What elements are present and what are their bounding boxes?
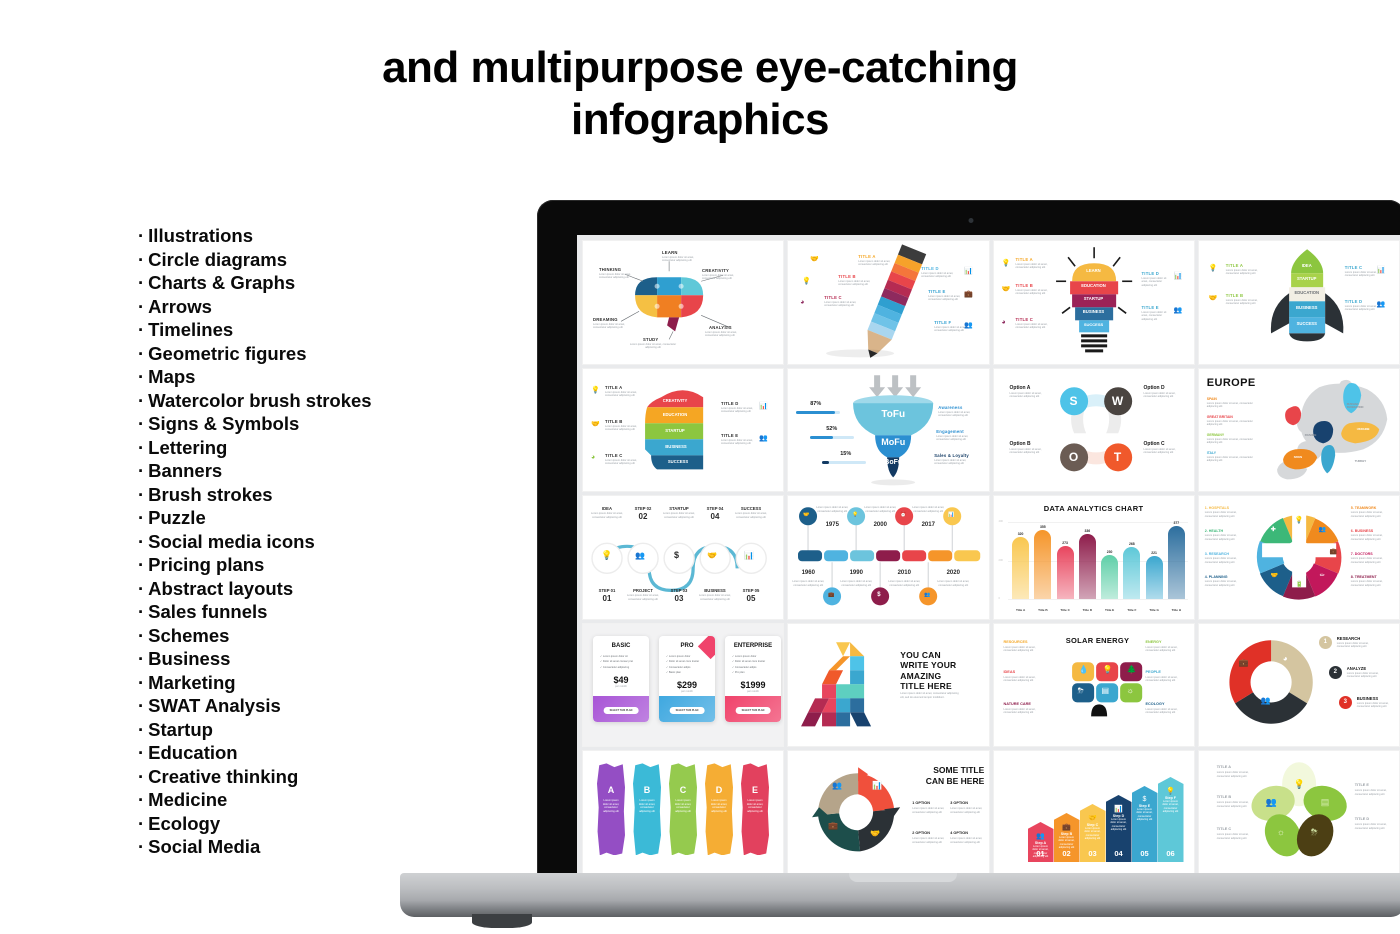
swot-option-b: Option B xyxy=(1010,441,1031,447)
map-label-russia: RUSSIAN FEDERATION xyxy=(1347,403,1373,409)
timeline-year-2017: 2017 xyxy=(912,522,944,528)
solar-energy-title: SOLAR ENERGY xyxy=(1060,636,1136,645)
chart-category-label: Title C xyxy=(1057,608,1074,612)
feature-list-item-label: Startup xyxy=(148,719,213,740)
feature-list-item-label: Geometric figures xyxy=(148,343,306,364)
slide-eco-flower[interactable]: 💡 👥 ▤ ☼ ⛈ TITLE A Lorem ipsum dolor sit … xyxy=(1199,751,1399,874)
rocket-text-a: Lorem ipsum dolor sit amet, consectetur … xyxy=(1226,269,1260,276)
letter-a-mosaic xyxy=(788,624,988,747)
step-top-label-1: IDEA xyxy=(591,506,623,511)
timeline-text-2020: Lorem ipsum dolor sit amet, consectetur … xyxy=(936,580,970,587)
arrow-step[interactable]: 💡Step FLorem ipsum dolor sit amet, conse… xyxy=(1158,777,1184,862)
funnel-percent-1: 87% xyxy=(810,401,821,407)
rocket-text-b: Lorem ipsum dolor sit amet, consectetur … xyxy=(1226,299,1260,306)
brush-stroke: ALorem ipsum dolor sit amet, consectetur… xyxy=(597,763,625,855)
bulb-band-learn: LEARN xyxy=(1072,268,1116,273)
feature-list-item: ·Banners xyxy=(138,459,438,483)
eco-text-b: Lorem ipsum dolor sit amet, consectetur … xyxy=(1217,801,1253,808)
pricing-amount: $49 xyxy=(593,675,649,685)
pricing-card[interactable]: BASIC✓ Lorem ipsum dolor sit✓ Dolor sit … xyxy=(593,636,649,722)
bulb-band-startup: STARTUP xyxy=(1072,296,1116,301)
pricing-period: per month xyxy=(725,690,781,693)
handshake-icon: 🤝 xyxy=(1080,814,1106,822)
funnel-sales-text: Lorem ipsum dolor sit amet, consectetur … xyxy=(934,459,970,466)
bulb-title-e: TITLE E xyxy=(1142,305,1159,310)
medical-label-teamwork: 5. TEAMWORK xyxy=(1351,506,1377,510)
feature-list-item: ·Abstract layouts xyxy=(138,577,438,601)
medical-teamwork-text: Lorem ipsum dolor sit amet, consectetur … xyxy=(1351,511,1393,518)
solar-label-people: PEOPLE xyxy=(1146,670,1161,674)
step-top-text-3: Lorem ipsum dolor sit amet, consectetur … xyxy=(661,512,697,519)
people-icon: 👥 xyxy=(759,434,768,442)
arrow-steps-holder: 👥Step ALorem ipsum dolor sit amet, conse… xyxy=(994,751,1194,874)
arrow-step-text: Lorem ipsum dolor sit amet, consectetur … xyxy=(1106,818,1132,832)
feature-list-item: ·Arrows xyxy=(138,295,438,319)
pencil-title-a: TITLE A xyxy=(858,254,875,259)
bar-chart-icon: 📊 xyxy=(948,512,954,518)
funnel-stage-awareness: Awareness xyxy=(938,405,962,410)
head-band-business: BUSINESS xyxy=(651,444,701,449)
step-top-label-2: STEP 02 xyxy=(627,506,659,511)
timeline-text-2010: Lorem ipsum dolor sit amet, consectetur … xyxy=(888,580,920,587)
briefcase-icon: 💼 xyxy=(964,290,973,298)
three-circle-label: ANALYZE xyxy=(1347,666,1366,671)
pricing-feature: ✓ Lorem ipsum dolor sit xyxy=(600,655,649,658)
feature-list-item: ·Business xyxy=(138,647,438,671)
pricing-select-button[interactable]: SELECT THIS PLAN xyxy=(736,707,771,714)
feature-list-item-label: Schemes xyxy=(148,625,229,646)
europe-legend-germany: GERMANY xyxy=(1207,433,1224,437)
bar-chart-icon: 📊 xyxy=(964,267,973,275)
some-title-option-4-text: Lorem ipsum dolor sit amet, consectetur … xyxy=(950,837,982,844)
bulb-text-b: Lorem ipsum dolor sit amet, consectetur … xyxy=(1016,289,1050,296)
step-top-number-2: 02 xyxy=(627,512,659,521)
eco-text-a: Lorem ipsum dolor sit amet, consectetur … xyxy=(1217,771,1253,778)
pie-chart-icon: ◕ xyxy=(591,454,595,461)
medical-label-treatment: 8. TREATMENT xyxy=(1351,575,1377,579)
people-icon: 👥 xyxy=(1266,797,1277,808)
feature-list-item: ·Marketing xyxy=(138,671,438,695)
water-drop-icon: 💧 xyxy=(1079,665,1089,674)
chart-gridline xyxy=(1008,599,1188,600)
medical-label-planning: 4. PLANNING xyxy=(1205,575,1228,579)
chart-bar xyxy=(1034,530,1051,598)
step-bottom-number-1: 01 xyxy=(591,594,623,603)
pencil-text-b: Lorem ipsum dolor sit amet, consectetur … xyxy=(838,280,872,287)
slide-rocket[interactable]: IDEA STARTUP EDUCATION BUSINESS SUCCESS … xyxy=(1199,241,1399,364)
chart-value-label: 273 xyxy=(1057,541,1074,545)
three-circle-item: 1RESEARCHLorem ipsum dolor sit amet, con… xyxy=(1319,634,1397,664)
chart-category-label: Title G xyxy=(1146,608,1163,612)
slide-arrow-steps[interactable]: 👥Step ALorem ipsum dolor sit amet, conse… xyxy=(994,751,1194,874)
brain-label-analysis: ANALYSIS xyxy=(709,325,732,330)
bullet-icon: · xyxy=(138,648,144,669)
head-band-success: SUCCESS xyxy=(655,459,701,464)
pricing-feature: ✓ Dolor sit amet cons tracter xyxy=(666,660,715,663)
three-circle-number: 1 xyxy=(1319,636,1332,649)
people-icon: 👥 xyxy=(1028,832,1054,840)
feature-list-item-label: Education xyxy=(148,742,237,763)
some-title-headline-line: CAN BE HERE xyxy=(912,776,984,787)
brain-dreaming-text: Lorem ipsum dolor sit amet, consectetur … xyxy=(593,323,629,330)
bulb-band-business: BUSINESS xyxy=(1075,309,1113,314)
briefcase-icon: 💼 xyxy=(1239,658,1249,667)
arrow-step[interactable]: 💼Step BLorem ipsum dolor sit amet, conse… xyxy=(1054,813,1080,862)
lightbulb-icon: 💡 xyxy=(1158,787,1184,795)
arrow-step-text: Lorem ipsum dolor sit amet, consectetur … xyxy=(1080,827,1106,841)
medical-business-text: Lorem ipsum dolor sit amet, consectetur … xyxy=(1351,534,1393,541)
briefcase-icon: 💼 xyxy=(828,821,838,830)
tree-icon: 🌲 xyxy=(1127,665,1137,674)
slide-swot[interactable]: S W O T Option A Lorem ipsum dolor sit a… xyxy=(994,369,1194,492)
chart-category-label: Title A xyxy=(1012,608,1029,612)
slide-pencil[interactable]: TITLE A Lorem ipsum dolor sit amet, cons… xyxy=(788,241,988,364)
arrow-step[interactable]: $Step ELorem ipsum dolor sit amet, conse… xyxy=(1132,786,1158,862)
arrow-step-number: 02 xyxy=(1054,849,1080,858)
chart-value-label: 230 xyxy=(1101,550,1118,554)
timeline-year-1990: 1990 xyxy=(840,570,872,576)
step-top-label-3: STARTUP xyxy=(663,506,695,511)
step-bottom-number-5: 05 xyxy=(735,594,767,603)
brain-label-study: STUDY xyxy=(643,337,658,342)
slide-brain-puzzle[interactable]: LEARN Lorem ipsum dolor sit amet, consec… xyxy=(583,241,783,364)
timeline-year-2020: 2020 xyxy=(936,570,970,576)
europe-legend-uk: GREAT BRITAIN xyxy=(1207,415,1233,419)
analytics-plot-area: 4002000320Title A355Title B273Title C336… xyxy=(994,496,1194,619)
pricing-period: per month xyxy=(659,690,715,693)
bullet-icon: · xyxy=(138,296,144,317)
bar-chart-icon: 📊 xyxy=(1377,266,1386,274)
some-title-option-3: 3 OPTION xyxy=(950,801,968,805)
bullet-icon: · xyxy=(138,460,144,481)
step-top-label-5: SUCCESS xyxy=(735,506,767,511)
lightbulb-icon: 💡 xyxy=(601,550,612,561)
three-circle-text: Lorem ipsum dolor sit amet, consectetur … xyxy=(1347,672,1387,679)
arrow-step[interactable]: 👥Step ALorem ipsum dolor sit amet, conse… xyxy=(1028,822,1054,862)
dollar-icon: $ xyxy=(674,550,679,560)
swot-option-b-text: Lorem ipsum dolor sit amet, consectetur … xyxy=(1010,448,1048,455)
pricing-card[interactable]: ENTERPRISE✓ Lorem ipsum dolor✓ Dolor sit… xyxy=(725,636,781,722)
medical-health-text: Lorem ipsum dolor sit amet, consectetur … xyxy=(1205,534,1247,541)
brush-stroke-text: Lorem ipsum dolor sit amet, consectetur … xyxy=(633,799,661,813)
slide-analytics-chart[interactable]: DATA ANALYTICS CHART 4002000320Title A35… xyxy=(994,496,1194,619)
arrow-step-number: 05 xyxy=(1132,849,1158,858)
letter-a-headline-line: TITLE HERE xyxy=(900,681,956,692)
dollar-icon: $ xyxy=(877,592,880,598)
feature-list-item-label: Puzzle xyxy=(148,507,206,528)
rocket-band-startup: STARTUP xyxy=(1291,276,1323,281)
bulb-text-d: Lorem ipsum dolor sit amet, consectetur … xyxy=(1142,277,1172,287)
bar-chart-icon: 📊 xyxy=(744,551,754,560)
feature-list-item-label: Medicine xyxy=(148,789,227,810)
rocket-title-a: TITLE A xyxy=(1226,263,1243,268)
bar-chart-icon: 📊 xyxy=(872,781,882,790)
brush-stroke-text: Lorem ipsum dolor sit amet, consectetur … xyxy=(705,799,733,813)
handshake-icon: 🤝 xyxy=(810,255,819,263)
slide-pricing-plans[interactable]: BASIC✓ Lorem ipsum dolor sit✓ Dolor sit … xyxy=(583,624,783,747)
step-bottom-label-4: BUSINESS xyxy=(699,588,731,593)
funnel-level-tofu: ToFu xyxy=(868,409,918,420)
pricing-feature: ✓ Dolor sit amet consec pret xyxy=(600,660,649,663)
letter-a-headline-line: YOU CAN xyxy=(900,650,956,661)
feature-list-item: ·Signs & Symbols xyxy=(138,412,438,436)
head-title-b: TITLE B xyxy=(605,419,623,424)
brain-label-learn: LEARN xyxy=(662,250,678,255)
timeline-text-2017: Lorem ipsum dolor sit amet, consectetur … xyxy=(912,506,944,513)
chart-category-label: Title H xyxy=(1168,608,1185,612)
europe-legend-italy: ITALY xyxy=(1207,451,1216,455)
step-bottom-text-4: Lorem ipsum dolor sit amet, consectetur … xyxy=(697,594,733,601)
chart-bar xyxy=(1101,555,1118,599)
chart-value-label: 268 xyxy=(1123,542,1140,546)
three-circle-number: 2 xyxy=(1329,666,1342,679)
three-circle-label: RESEARCH xyxy=(1337,636,1361,641)
pencil-text-a: Lorem ipsum dolor sit amet, consectetur … xyxy=(858,260,892,267)
arrow-step-number: 06 xyxy=(1158,849,1184,858)
bullet-icon: · xyxy=(138,531,144,552)
solar-panel-icon: ▤ xyxy=(1102,686,1110,695)
three-circle-list: 1RESEARCHLorem ipsum dolor sit amet, con… xyxy=(1319,634,1397,724)
timeline-year-2000: 2000 xyxy=(864,522,896,528)
pricing-select-button[interactable]: SELECT THIS PLAN xyxy=(670,707,705,714)
solar-label-energy: ENERGY xyxy=(1146,640,1162,644)
bulb-band-education: EDUCATION xyxy=(1070,283,1118,288)
bullet-icon: · xyxy=(138,249,144,270)
slide-head-profile[interactable]: CREATIVITY EDUCATION STARTUP BUSINESS SU… xyxy=(583,369,783,492)
bulb-title-c: TITLE C xyxy=(1016,317,1034,322)
eco-text-e: Lorem ipsum dolor sit amet, consectetur … xyxy=(1355,789,1391,796)
step-top-number-4: 04 xyxy=(699,512,731,521)
medical-label-health: 2. HEALTH xyxy=(1205,529,1223,533)
pencil-title-f: TITLE F xyxy=(934,320,951,325)
swot-option-a-text: Lorem ipsum dolor sit amet, consectetur … xyxy=(1010,392,1048,399)
bullet-icon: · xyxy=(138,766,144,787)
plus-icon: ✚ xyxy=(1271,526,1276,533)
head-band-creativity: CREATIVITY xyxy=(651,398,699,403)
eco-title-c: TITLE C xyxy=(1217,827,1231,831)
map-label-france: FRANCE xyxy=(1305,433,1317,437)
chart-y-tick: 400 xyxy=(999,520,1003,523)
feature-list-item-label: Social media icons xyxy=(148,531,315,552)
bullet-icon: · xyxy=(138,225,144,246)
chart-bar xyxy=(1079,534,1096,599)
people-icon: 👥 xyxy=(1261,696,1271,705)
rocket-band-idea: IDEA xyxy=(1291,263,1323,268)
three-circle-item: 2ANALYZELorem ipsum dolor sit amet, cons… xyxy=(1319,664,1397,694)
solar-label-ideas: IDEAS xyxy=(1004,670,1016,674)
head-text-e: Lorem ipsum dolor sit amet, consectetur … xyxy=(721,439,753,446)
feature-list-item: ·Creative thinking xyxy=(138,765,438,789)
timeline-year-2010: 2010 xyxy=(888,570,920,576)
medical-label-doctors: 7. DOCTORS xyxy=(1351,552,1373,556)
brush-stroke-letter: E xyxy=(741,785,769,795)
slide-solar-energy[interactable]: SOLAR ENERGY 💧 💡 🌲 xyxy=(994,624,1194,747)
brush-stroke: ELorem ipsum dolor sit amet, consectetur… xyxy=(741,763,769,855)
swot-option-d: Option D xyxy=(1144,385,1165,391)
pie-chart-icon: ◕ xyxy=(800,299,804,306)
feature-list-item-label: Lettering xyxy=(148,437,227,458)
step-top-text-5: Lorem ipsum dolor sit amet, consectetur … xyxy=(733,512,769,519)
brain-label-thinking: THINKING xyxy=(599,267,621,272)
funnel-percent-3: 15% xyxy=(840,451,851,457)
lightbulb-icon: 💡 xyxy=(1209,264,1218,272)
bullet-icon: · xyxy=(138,813,144,834)
dollar-icon: $ xyxy=(1132,796,1158,803)
step-bottom-label-3: STEP 03 xyxy=(663,588,695,593)
chart-category-label: Title B xyxy=(1034,608,1051,612)
head-band-startup: STARTUP xyxy=(649,428,701,433)
bulb-text-c: Lorem ipsum dolor sit amet, consectetur … xyxy=(1016,323,1050,330)
head-title-e: TITLE E xyxy=(721,433,738,438)
bullet-icon: · xyxy=(138,366,144,387)
eco-text-d: Lorem ipsum dolor sit amet, consectetur … xyxy=(1355,823,1391,830)
letter-a-headline-line: WRITE YOUR xyxy=(900,660,956,671)
funnel-level-bofu: BoFu xyxy=(876,459,910,466)
timeline-text-1975: Lorem ipsum dolor sit amet, consectetur … xyxy=(816,506,848,513)
people-icon: 👥 xyxy=(964,321,973,329)
bulb-text-a: Lorem ipsum dolor sit amet, consectetur … xyxy=(1016,263,1050,270)
page-title: and multipurpose eye-catching infographi… xyxy=(330,42,1070,146)
eco-title-a: TITLE A xyxy=(1217,765,1231,769)
europe-italy-text: Lorem ipsum dolor sit amet, consectetur … xyxy=(1207,456,1263,463)
feature-list-item-label: Arrows xyxy=(148,296,212,317)
arrow-step-number: 04 xyxy=(1106,849,1132,858)
map-label-ukraine: UKRAINE xyxy=(1357,427,1370,431)
slide-steps-wave[interactable]: 💡 👥 $ 🤝 📊 IDEA Lorem ipsum dolor sit ame… xyxy=(583,496,783,619)
three-circle-item: 3BUSINESSLorem ipsum dolor sit amet, con… xyxy=(1319,694,1397,724)
some-title-option-1: 1 OPTION xyxy=(912,801,930,805)
europe-germany-text: Lorem ipsum dolor sit amet, consectetur … xyxy=(1207,438,1263,445)
brain-analysis-text: Lorem ipsum dolor sit amet, consectetur … xyxy=(705,331,747,338)
funnel-bar-2 xyxy=(810,436,854,439)
some-title-option-2-text: Lorem ipsum dolor sit amet, consectetur … xyxy=(912,837,944,844)
funnel-bar-3 xyxy=(822,461,866,464)
bulb-title-a: TITLE A xyxy=(1016,257,1033,262)
handshake-icon: 🤝 xyxy=(1209,294,1218,302)
lightbulb-icon: 💡 xyxy=(802,277,811,285)
pricing-card[interactable]: PRO✓ Lorem ipsum dolor✓ Dolor sit amet c… xyxy=(659,636,715,722)
lightbulb-icon: 💡 xyxy=(1295,516,1304,524)
medical-doctors-text: Lorem ipsum dolor sit amet, consectetur … xyxy=(1351,557,1393,564)
medical-label-hospitals: 1. HOSPITALS xyxy=(1205,506,1229,510)
funnel-level-mofu: MoFu xyxy=(872,437,914,447)
feature-list-item: ·Social Media xyxy=(138,835,438,859)
solar-resources-text: Lorem ipsum dolor sit amet, consectetur … xyxy=(1004,646,1048,653)
pricing-feature: ✓ Consectetur adipis xyxy=(666,666,715,669)
bullet-icon: · xyxy=(138,554,144,575)
step-bottom-label-2: PROJECT xyxy=(627,588,659,593)
feature-list: ·Illustrations·Circle diagrams·Charts & … xyxy=(138,224,438,859)
solar-nature-text: Lorem ipsum dolor sit amet, consectetur … xyxy=(1004,708,1048,715)
feature-list-item-label: Circle diagrams xyxy=(148,249,287,270)
slide-sales-funnel[interactable]: ToFu MoFu BoFu 87% 52% 15% Awareness Lor… xyxy=(788,369,988,492)
eco-title-e: TITLE E xyxy=(1355,783,1369,787)
rocket-band-success: SUCCESS xyxy=(1289,321,1325,326)
slide-timeline[interactable]: 1975 Lorem ipsum dolor sit amet, consect… xyxy=(788,496,988,619)
pencil-text-d: Lorem ipsum dolor sit amet, consectetur … xyxy=(921,272,955,279)
laptop-mockup: LEARN Lorem ipsum dolor sit amet, consec… xyxy=(400,200,1400,934)
people-icon: 👥 xyxy=(1377,300,1386,308)
chart-bar xyxy=(1146,556,1163,599)
sun-icon: ☼ xyxy=(1277,827,1285,837)
handshake-icon: 🤝 xyxy=(803,512,809,518)
timeline-year-1975: 1975 xyxy=(816,522,848,528)
people-icon: 👥 xyxy=(635,551,645,560)
bullet-icon: · xyxy=(138,789,144,810)
page-title-line-2: infographics xyxy=(330,94,1070,146)
slide-letter-a[interactable]: YOU CANWRITE YOURAMAZINGTITLE HERE Lorem… xyxy=(788,624,988,747)
slide-some-title-circle[interactable]: 📊 🤝 💼 👥 SOME TITLECAN BE HERE 1 OPTION L… xyxy=(788,751,988,874)
bullet-icon: · xyxy=(138,695,144,716)
brain-label-creativity: CREATIVITY xyxy=(702,268,729,273)
slide-medical-circle[interactable]: 💡 👥 💼 ✏ 🔋 🤝 ♡ ✚ 1. HOSPITALS Lorem ipsum… xyxy=(1199,496,1399,619)
map-label-turkey: TURKEY xyxy=(1355,459,1367,463)
solar-label-nature-care: NATURE CARE xyxy=(1004,702,1031,706)
brush-strokes-holder: ALorem ipsum dolor sit amet, consectetur… xyxy=(583,751,783,874)
rocket-title-c: TITLE C xyxy=(1345,265,1363,270)
feature-list-item-label: Timelines xyxy=(148,319,233,340)
feature-list-item: ·Pricing plans xyxy=(138,553,438,577)
arrow-step[interactable]: 📊Step DLorem ipsum dolor sit amet, conse… xyxy=(1106,795,1132,862)
slide-brush-strokes[interactable]: ALorem ipsum dolor sit amet, consectetur… xyxy=(583,751,783,874)
page-title-line-1: and multipurpose eye-catching xyxy=(330,42,1070,94)
arrow-step[interactable]: 🤝Step CLorem ipsum dolor sit amet, conse… xyxy=(1080,804,1106,862)
handshake-icon: 🤝 xyxy=(870,829,880,838)
rocket-title-b: TITLE B xyxy=(1226,293,1244,298)
rocket-band-education: EDUCATION xyxy=(1289,290,1325,295)
pricing-plan-title: BASIC xyxy=(593,643,649,649)
pricing-amount: $1999 xyxy=(725,680,781,690)
cloud-bolt-icon: ⛈ xyxy=(1078,686,1084,696)
funnel-awareness-text: Lorem ipsum dolor sit amet, consectetur … xyxy=(938,411,974,418)
swot-option-a: Option A xyxy=(1010,385,1031,391)
laptop-foot xyxy=(472,914,532,928)
people-icon: 👥 xyxy=(832,781,842,790)
chart-category-label: Title E xyxy=(1101,608,1118,612)
arrow-step-number: 03 xyxy=(1080,849,1106,858)
medical-research-text: Lorem ipsum dolor sit amet, consectetur … xyxy=(1205,557,1247,564)
eco-title-d: TITLE D xyxy=(1355,817,1369,821)
chart-bar xyxy=(1168,526,1185,599)
eco-text-c: Lorem ipsum dolor sit amet, consectetur … xyxy=(1217,833,1253,840)
rocket-band-business: BUSINESS xyxy=(1289,305,1325,310)
brain-creativity-text: Lorem ipsum dolor sit amet, consectetur … xyxy=(702,274,738,281)
timeline-year-1960: 1960 xyxy=(792,570,824,576)
rocket-text-c: Lorem ipsum dolor sit amet, consectetur … xyxy=(1345,271,1377,278)
feature-list-item: ·Charts & Graphs xyxy=(138,271,438,295)
bulb-band-success: SUCCESS xyxy=(1079,322,1109,327)
brush-stroke-letter: A xyxy=(597,785,625,795)
slide-europe-map[interactable]: EUROPE xyxy=(1199,369,1399,492)
solar-energy-text: Lorem ipsum dolor sit amet, consectetur … xyxy=(1146,646,1190,653)
feature-list-item: ·Maps xyxy=(138,365,438,389)
pricing-feature: ✓ Basic plan xyxy=(666,671,715,674)
head-text-d: Lorem ipsum dolor sit amet, consectetur … xyxy=(721,407,753,414)
lightbulb-icon: 💡 xyxy=(1294,779,1305,790)
slide-three-circle[interactable]: ◕ 👥 💼 1RESEARCHLorem ipsum dolor sit ame… xyxy=(1199,624,1399,747)
letter-a-body: Lorem ipsum dolor sit amet, consectetur … xyxy=(900,692,962,700)
three-circle-label: BUSINESS xyxy=(1357,696,1378,701)
bulb-title-b: TITLE B xyxy=(1016,283,1034,288)
slide-lightbulb[interactable]: LEARN EDUCATION STARTUP BUSINESS SUCCESS… xyxy=(994,241,1194,364)
head-text-b: Lorem ipsum dolor sit amet, consectetur … xyxy=(605,425,637,432)
brush-stroke-text: Lorem ipsum dolor sit amet, consectetur … xyxy=(741,799,769,813)
bullet-icon: · xyxy=(138,272,144,293)
feature-list-item: ·Medicine xyxy=(138,788,438,812)
pricing-select-button[interactable]: SELECT THIS PLAN xyxy=(604,707,639,714)
feature-list-item: ·Ecology xyxy=(138,812,438,836)
some-title-option-1-text: Lorem ipsum dolor sit amet, consectetur … xyxy=(912,807,944,814)
